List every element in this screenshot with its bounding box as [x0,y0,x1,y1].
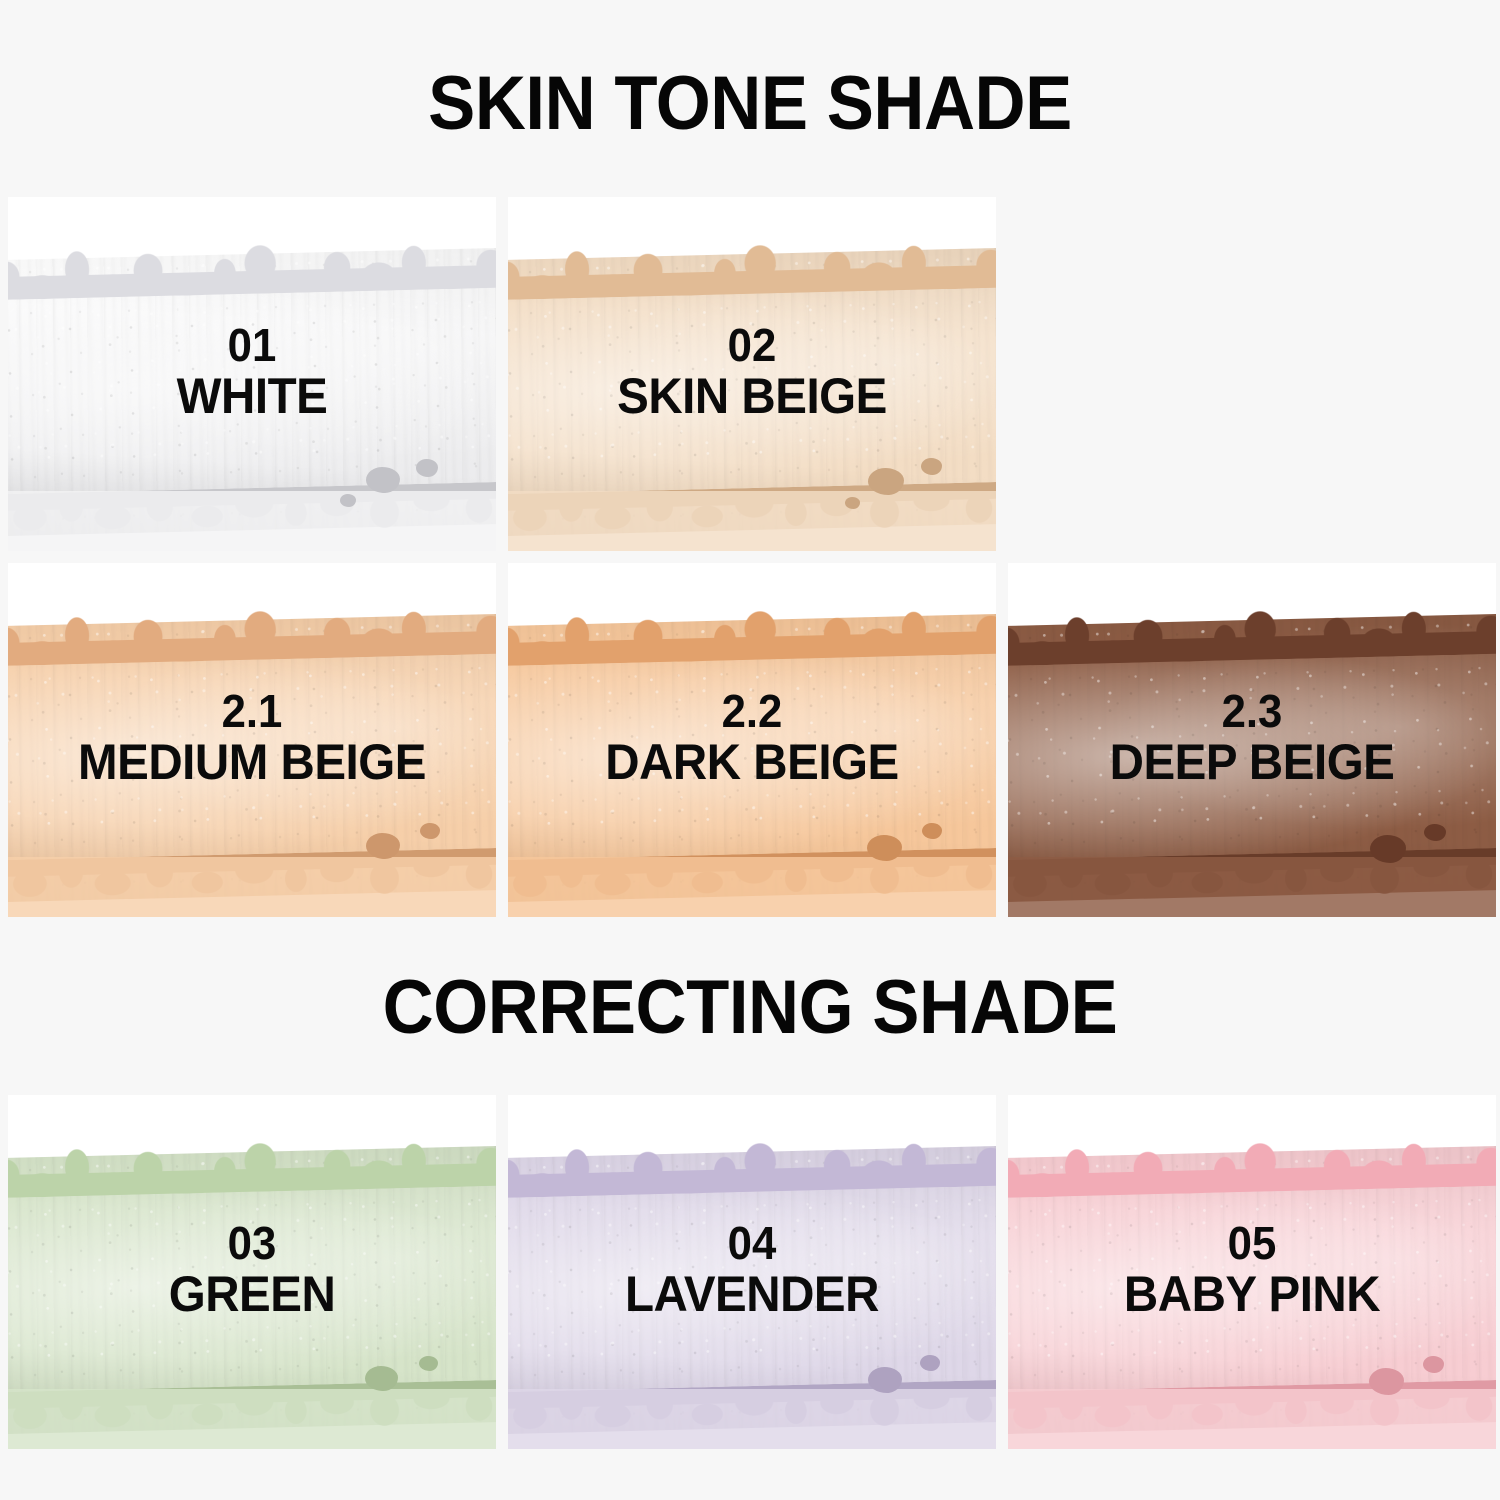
powder-fleck [366,833,400,859]
crumb-edge-top [8,1108,496,1198]
powder-fleck [868,1367,902,1393]
powder-fleck [1423,1356,1444,1373]
section-title-correcting: CORRECTING SHADE [53,970,1448,1046]
swatch-tile-05-baby-pink[interactable]: 05 BABY PINK [1008,1095,1496,1449]
powder-fleck [1424,824,1446,841]
swatch-row-skin-tone-1: 01 WHITE 02 SKIN BEIGE [8,197,996,551]
powder-fleck [920,1355,940,1371]
swatch-tile-01-white[interactable]: 01 WHITE [8,197,496,551]
powder-fleck [366,467,400,493]
crumb-edge-top [508,1108,996,1198]
powder-fleck [416,459,438,477]
swatch-tile-02-skin-beige[interactable]: 02 SKIN BEIGE [508,197,996,551]
powder-fleck [845,497,860,509]
powder-fleck [365,1366,398,1391]
swatch-tile-04-lavender[interactable]: 04 LAVENDER [508,1095,996,1449]
swatch-row-skin-tone-2: 2.1 MEDIUM BEIGE 2.2 DARK BEIGE [8,563,1496,917]
under-wash [508,1389,996,1449]
powder-fleck [867,835,902,861]
crumb-edge-top [8,576,496,666]
powder-fleck [419,1356,438,1371]
crumb-edge-top [1008,576,1496,666]
swatch-row-correcting: 03 GREEN 04 LAVENDER [8,1095,1496,1449]
section-title-skin-tone: SKIN TONE SHADE [53,66,1448,142]
crumb-edge-top [8,210,496,300]
powder-fleck [868,468,904,495]
crumb-edge-top [508,210,996,300]
powder-fleck [1370,835,1406,863]
under-wash [1008,857,1496,917]
swatch-tile-03-green[interactable]: 03 GREEN [8,1095,496,1449]
powder-fleck [921,458,942,475]
under-wash [8,1389,496,1449]
powder-fleck [922,823,942,839]
swatch-tile-22-dark-beige[interactable]: 2.2 DARK BEIGE [508,563,996,917]
swatch-tile-21-medium-beige[interactable]: 2.1 MEDIUM BEIGE [8,563,496,917]
under-wash [8,491,496,551]
crumb-edge-top [508,576,996,666]
swatch-tile-23-deep-beige[interactable]: 2.3 DEEP BEIGE [1008,563,1496,917]
under-wash [8,857,496,917]
powder-fleck [340,494,356,507]
under-wash [1008,1389,1496,1449]
crumb-edge-top [1008,1108,1496,1198]
shade-chart-page: SKIN TONE SHADE 01 WHITE [0,0,1500,1500]
under-wash [508,491,996,551]
under-wash [508,857,996,917]
powder-fleck [420,823,440,839]
powder-fleck [1369,1368,1404,1395]
